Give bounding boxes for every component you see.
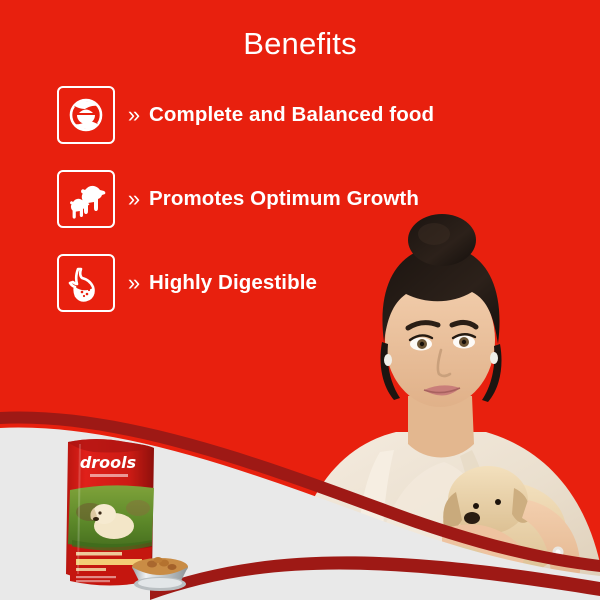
benefits-list: » Complete and Balanced food » Promotes … <box>57 80 434 332</box>
benefit-label: Highly Digestible <box>149 271 317 295</box>
svg-text:drools: drools <box>80 453 136 472</box>
product-package: drools <box>60 434 190 594</box>
two-dogs-icon <box>57 170 115 228</box>
advertisement-canvas: Benefits <box>0 0 600 600</box>
page-title: Benefits <box>0 26 600 62</box>
benefit-label: Promotes Optimum Growth <box>149 187 419 211</box>
benefit-row-highly-digestible[interactable]: » Highly Digestible <box>57 248 434 318</box>
chevron-marker: » <box>119 272 149 294</box>
stomach-icon <box>57 254 115 312</box>
chevron-marker: » <box>119 104 149 126</box>
benefit-row-promotes-optimum-growth[interactable]: » Promotes Optimum Growth <box>57 164 434 234</box>
chevron-marker: » <box>119 188 149 210</box>
benefit-row-complete-and-balanced-food[interactable]: » Complete and Balanced food <box>57 80 434 150</box>
food-bowl-icon <box>57 86 115 144</box>
benefit-label: Complete and Balanced food <box>149 103 434 127</box>
